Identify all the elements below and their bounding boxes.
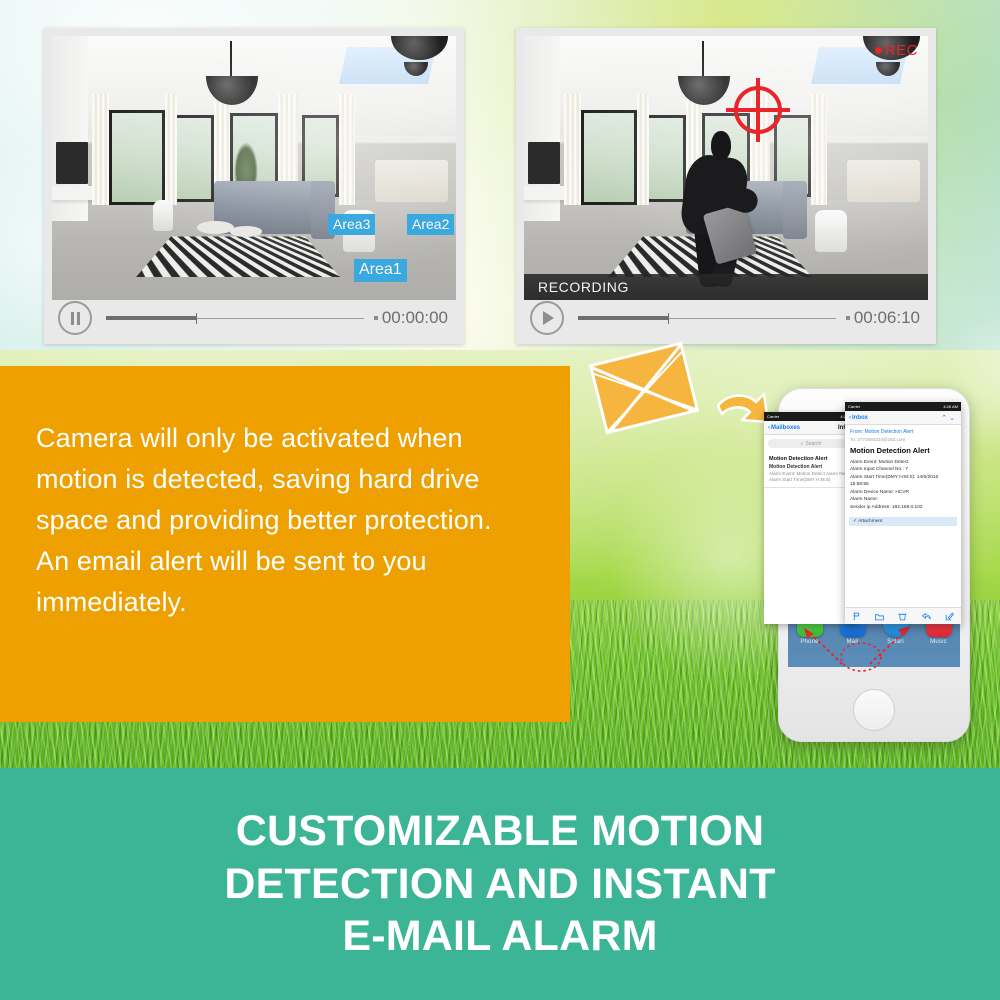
search-input[interactable]: ⌕ Search (768, 439, 854, 448)
attachment-label: Attachment (858, 519, 882, 524)
search-icon: ⌕ (801, 441, 804, 447)
description-text: Camera will only be activated when motio… (36, 418, 526, 623)
poster-canvas: Area3 Area2 Area1 00:00:00 (0, 0, 1000, 1000)
chevron-left-icon: ‹ (768, 425, 770, 431)
chevron-left-icon: ‹ (849, 415, 851, 421)
ios-status-bar: Carrier 4:26 AM (764, 412, 858, 421)
status-carrier: Carrier (848, 404, 860, 409)
bottom-banner: CUSTOMIZABLE MOTION DETECTION AND INSTAN… (0, 768, 1000, 1000)
timecode-left: 00:00:00 (374, 308, 456, 328)
search-placeholder: Search (805, 441, 821, 447)
recording-status-label: RECORDING (524, 279, 629, 295)
timecode-right: 00:06:10 (846, 308, 928, 328)
back-to-mailboxes-button[interactable]: ‹ Mailboxes (768, 425, 800, 431)
list-item-subject: Motion Detection Alert (769, 464, 853, 470)
mail-header: From: Motion Detection Alert To: 2773494… (845, 425, 961, 442)
timecode-value: 00:06:10 (854, 308, 920, 328)
recording-status-bar: RECORDING (524, 274, 928, 300)
rec-indicator: REC (875, 42, 918, 59)
mail-body-line: Alarm Start Time(DMY H:M:S): 14/6/2016 (850, 474, 956, 481)
track-fill (578, 316, 668, 320)
list-item-snippet: Alarm Event: Motion Detect Alarm No. 7 A… (769, 471, 853, 483)
reply-icon[interactable] (922, 612, 931, 621)
timecode-dot (374, 316, 378, 320)
player-controls-left: 00:00:00 (52, 300, 456, 336)
status-carrier: Carrier (767, 414, 779, 419)
ios-status-bar: Carrier 4:26 AM (845, 402, 961, 411)
back-to-inbox-button[interactable]: ‹ Inbox (849, 415, 868, 421)
crosshair-horizontal (726, 108, 790, 112)
video-card-right: REC RECORDING 00:06:10 (516, 28, 936, 344)
player-controls-right: 00:06:10 (524, 300, 928, 336)
back-label: Inbox (852, 415, 868, 421)
folder-icon[interactable] (875, 612, 884, 621)
video-screen-left[interactable]: Area3 Area2 Area1 (52, 36, 456, 300)
banner-line-2: DETECTION AND INSTANT (224, 858, 775, 910)
dock-app-label: Music (924, 639, 954, 645)
rec-label: REC (885, 42, 918, 59)
mail-body-line: 15:58:55 (850, 481, 956, 488)
progress-track[interactable] (578, 313, 836, 323)
banner-line-3: E-MAIL ALARM (342, 910, 657, 962)
back-label: Mailboxes (771, 425, 800, 431)
orange-description-panel: Camera will only be activated when motio… (0, 366, 570, 722)
mail-to: To: 2773494334@163.com (850, 437, 956, 442)
home-button[interactable] (853, 689, 895, 731)
timecode-dot (846, 316, 850, 320)
pause-icon (71, 312, 80, 325)
area-label-area1[interactable]: Area1 (354, 259, 407, 282)
timecode-value: 00:00:00 (382, 308, 448, 328)
dotted-ellipse-icon (838, 640, 884, 674)
track-knob[interactable] (668, 313, 669, 324)
inbox-navbar: ‹ Mailboxes Inbox (764, 421, 858, 435)
play-button[interactable] (530, 301, 564, 335)
list-item[interactable]: Motion Detection Alert Motion Detection … (764, 452, 858, 488)
area-label-area2[interactable]: Area2 (407, 214, 454, 235)
mail-body-line: Alarm Input Channel No.: 7 (850, 466, 956, 473)
mail-body-line: Alarm Name: (850, 496, 956, 503)
compose-icon[interactable] (945, 612, 954, 621)
intruder-silhouette (669, 131, 774, 284)
mail-subject: Motion Detection Alert (845, 446, 961, 459)
mail-from: From: Motion Detection Alert (850, 429, 956, 435)
attachment-row[interactable]: ✓ Attachment (849, 517, 957, 526)
detail-navbar: ‹ Inbox ⌃⌄ (845, 411, 961, 425)
target-crosshair-icon (726, 78, 790, 142)
trash-icon[interactable] (898, 612, 907, 621)
play-icon (543, 311, 554, 325)
progress-track[interactable] (106, 313, 364, 323)
room-scene-image (524, 36, 928, 300)
track-knob[interactable] (196, 313, 197, 324)
mail-body-line: Sender ip Address: 192.168.0.102 (850, 504, 956, 511)
pause-button[interactable] (58, 301, 92, 335)
list-item-title: Motion Detection Alert (769, 456, 853, 462)
mail-inbox-screenshot[interactable]: Carrier 4:26 AM ‹ Mailboxes Inbox ⌕ Sear… (764, 412, 858, 624)
banner-line-1: CUSTOMIZABLE MOTION (236, 805, 765, 857)
mail-detail-screenshot[interactable]: Carrier 4:26 AM ‹ Inbox ⌃⌄ From: Motion … (845, 402, 961, 624)
track-fill (106, 316, 196, 320)
video-card-left: Area3 Area2 Area1 00:00:00 (44, 28, 464, 344)
rec-dot-icon (875, 47, 882, 54)
mail-body-line: Alarm Event: Motion Detect (850, 459, 956, 466)
area-label-area3[interactable]: Area3 (328, 214, 375, 235)
mail-toolbar (845, 607, 961, 624)
message-nav-arrows[interactable]: ⌃⌄ (941, 414, 957, 422)
mail-body: Alarm Event: Motion Detect Alarm Input C… (845, 459, 961, 511)
flag-icon[interactable] (852, 612, 861, 621)
video-screen-right[interactable]: REC RECORDING (524, 36, 928, 300)
mail-body-line: Alarm Device Name: HCVR (850, 489, 956, 496)
status-time: 4:26 AM (943, 404, 958, 409)
